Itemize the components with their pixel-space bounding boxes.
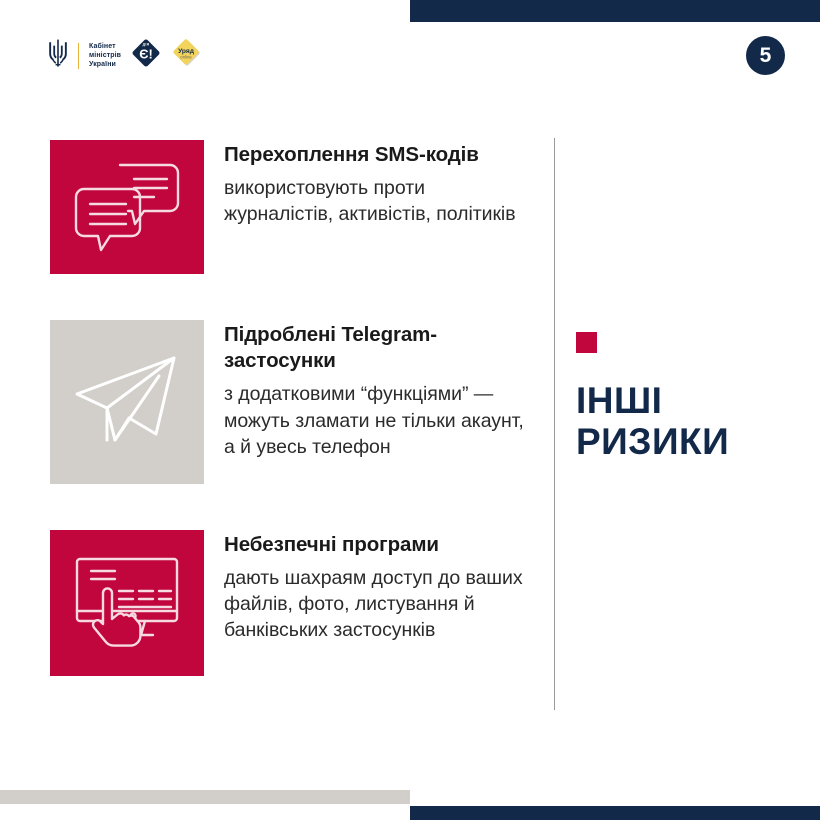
list-item: Перехоплення SMS-кодів використовують пр… bbox=[50, 140, 530, 274]
paper-plane-icon bbox=[50, 320, 204, 484]
risk-item-list: Перехоплення SMS-кодів використовують пр… bbox=[50, 140, 530, 676]
uryad-online-logo-icon: Уряд online bbox=[171, 37, 203, 74]
diia-logo-icon: ДIЯ Є! bbox=[130, 37, 162, 74]
item-title: Підроблені Telegram-застосунки bbox=[224, 322, 530, 374]
item-title: Перехоплення SMS-кодів bbox=[224, 142, 530, 168]
monitor-hand-cursor-icon bbox=[50, 530, 204, 676]
ukraine-trident-emblem-icon bbox=[48, 39, 68, 72]
logo-divider bbox=[78, 43, 79, 69]
list-item: Підроблені Telegram-застосунки з додатко… bbox=[50, 320, 530, 484]
svg-text:Є!: Є! bbox=[139, 47, 153, 62]
page-number-badge: 5 bbox=[746, 36, 785, 75]
right-panel: ІНШІ РИЗИКИ bbox=[576, 332, 806, 463]
item-text-block: Перехоплення SMS-кодів використовують пр… bbox=[224, 140, 530, 227]
bottom-gray-accent-bar bbox=[0, 790, 410, 804]
page-number-label: 5 bbox=[760, 44, 772, 68]
item-title: Небезпечні програми bbox=[224, 532, 530, 558]
list-item: Небезпечні програми дають шахраям доступ… bbox=[50, 530, 530, 676]
item-text-block: Підроблені Telegram-застосунки з додатко… bbox=[224, 320, 530, 460]
item-body: дають шахраям доступ до ваших файлів, фо… bbox=[224, 565, 530, 643]
red-square-bullet-icon bbox=[576, 332, 597, 353]
chat-bubbles-icon bbox=[50, 140, 204, 274]
section-title: ІНШІ РИЗИКИ bbox=[576, 380, 806, 463]
logo-lockup: Кабінет міністрів України ДIЯ Є! Уряд on… bbox=[48, 37, 203, 74]
top-accent-bar bbox=[410, 0, 820, 22]
item-body: з додатковими “функціями” — можуть злама… bbox=[224, 381, 530, 459]
column-divider bbox=[554, 138, 555, 710]
cabinet-of-ministers-label: Кабінет міністрів України bbox=[89, 42, 121, 69]
svg-text:online: online bbox=[180, 54, 192, 59]
item-body: використовують проти журналістів, активі… bbox=[224, 175, 530, 227]
item-text-block: Небезпечні програми дають шахраям доступ… bbox=[224, 530, 530, 644]
bottom-navy-accent-bar bbox=[410, 806, 820, 820]
slide-canvas: 5 Кабінет міністрів України bbox=[0, 0, 820, 820]
